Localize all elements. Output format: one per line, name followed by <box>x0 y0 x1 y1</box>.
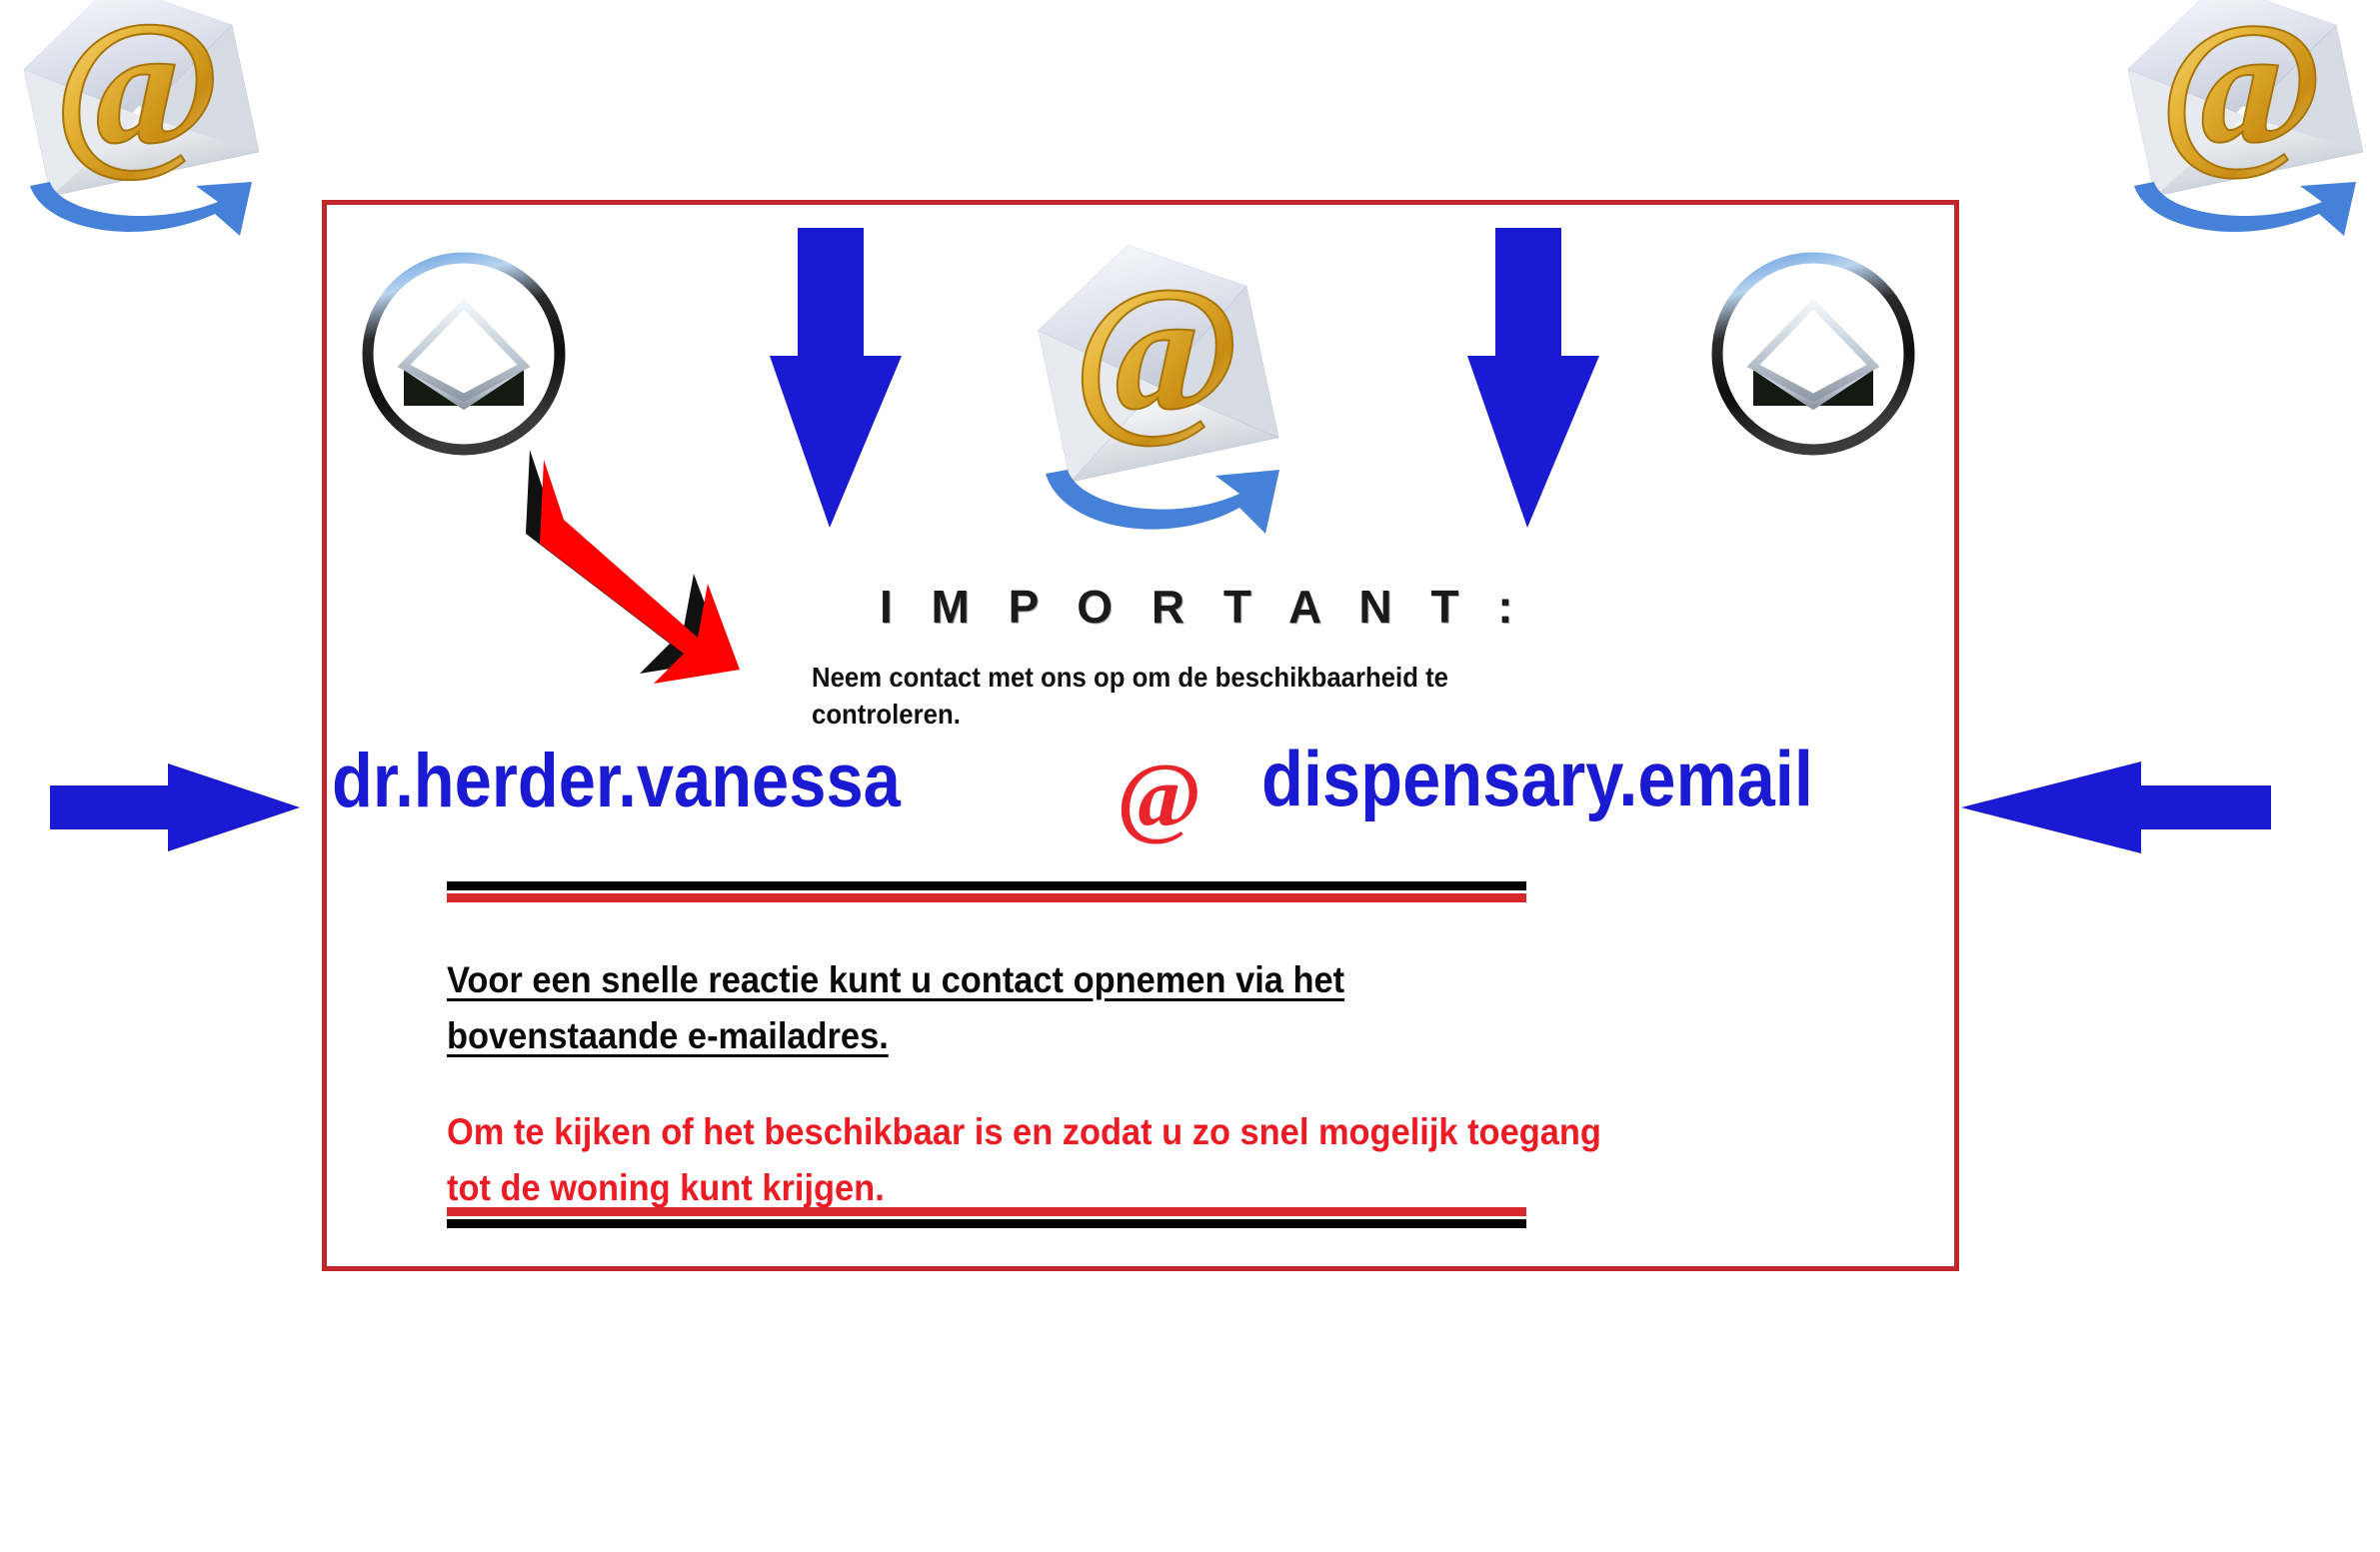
instruction-red: Om te kijken of het beschikbaar is en zo… <box>447 1104 1609 1216</box>
divider-bottom <box>447 1207 1526 1228</box>
heading-subtitle: Neem contact met ons op om de beschikbaa… <box>812 660 1575 734</box>
red-diagonal-arrow <box>440 432 770 692</box>
email-address-row[interactable]: dr.herder.vanessa @ dispensary.email <box>322 742 1959 851</box>
flyer-canvas: @ @ <box>0 0 2380 1552</box>
instruction-black: Voor een snelle reactie kunt u contact o… <box>447 952 1516 1064</box>
at-envelope-logo: @ <box>0 0 290 236</box>
email-domain-part[interactable]: dispensary.email <box>1261 734 1813 824</box>
svg-text:@: @ <box>2159 0 2325 184</box>
page-title: I M P O R T A N T : <box>880 580 1579 634</box>
svg-text:@: @ <box>54 0 223 186</box>
blue-right-arrow <box>50 758 300 857</box>
blue-down-arrow <box>772 228 912 528</box>
at-envelope-logo: @ <box>1008 212 1307 562</box>
email-local-part[interactable]: dr.herder.vanessa <box>332 738 901 824</box>
divider-bar-black <box>447 881 1526 890</box>
divider-top <box>447 881 1526 902</box>
blue-left-arrow <box>1961 758 2271 857</box>
at-symbol: @ <box>1117 750 1202 841</box>
divider-bar-black <box>447 1219 1526 1228</box>
divider-bar-red <box>447 1207 1526 1216</box>
chrome-circle-envelope-icon <box>1707 248 1919 460</box>
chrome-circle-envelope-icon <box>358 248 570 460</box>
svg-text:@: @ <box>1073 251 1241 452</box>
instruction-black-text: Voor een snelle reactie kunt u contact o… <box>447 959 1344 1056</box>
divider-bar-red <box>447 893 1526 902</box>
blue-down-arrow <box>1469 228 1609 528</box>
at-envelope-logo: @ <box>2094 0 2380 236</box>
